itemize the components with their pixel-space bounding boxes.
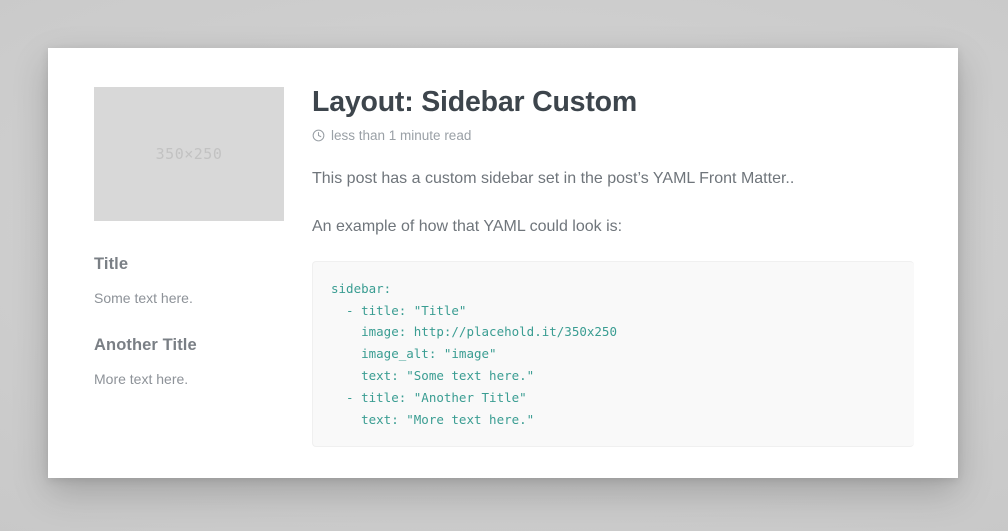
sidebar-block-text: More text here. xyxy=(94,369,284,390)
sidebar-block: Another Title More text here. xyxy=(94,336,284,390)
post-paragraph: This post has a custom sidebar set in th… xyxy=(312,167,958,191)
post-sidebar: 350×250 Title Some text here. Another Ti… xyxy=(48,48,312,478)
yaml-code: sidebar: - title: "Title" image: http://… xyxy=(331,278,896,431)
sidebar-block: Title Some text here. xyxy=(94,255,284,309)
desktop-backdrop: 350×250 Title Some text here. Another Ti… xyxy=(0,0,1008,531)
sidebar-block-title: Another Title xyxy=(94,336,284,355)
code-block: sidebar: - title: "Title" image: http://… xyxy=(312,261,914,448)
page-title: Layout: Sidebar Custom xyxy=(312,86,958,119)
post-paragraph: An example of how that YAML could look i… xyxy=(312,215,958,239)
sidebar-block-title: Title xyxy=(94,255,284,274)
post-meta: less than 1 minute read xyxy=(312,128,958,143)
read-time-label: less than 1 minute read xyxy=(331,128,471,143)
page-card: 350×250 Title Some text here. Another Ti… xyxy=(48,48,958,478)
clock-icon xyxy=(312,129,325,142)
post-main: Layout: Sidebar Custom less than 1 minut… xyxy=(312,48,958,478)
placeholder-dimensions-label: 350×250 xyxy=(156,145,223,163)
sidebar-placeholder-image: 350×250 xyxy=(94,87,284,221)
sidebar-block-text: Some text here. xyxy=(94,288,284,309)
